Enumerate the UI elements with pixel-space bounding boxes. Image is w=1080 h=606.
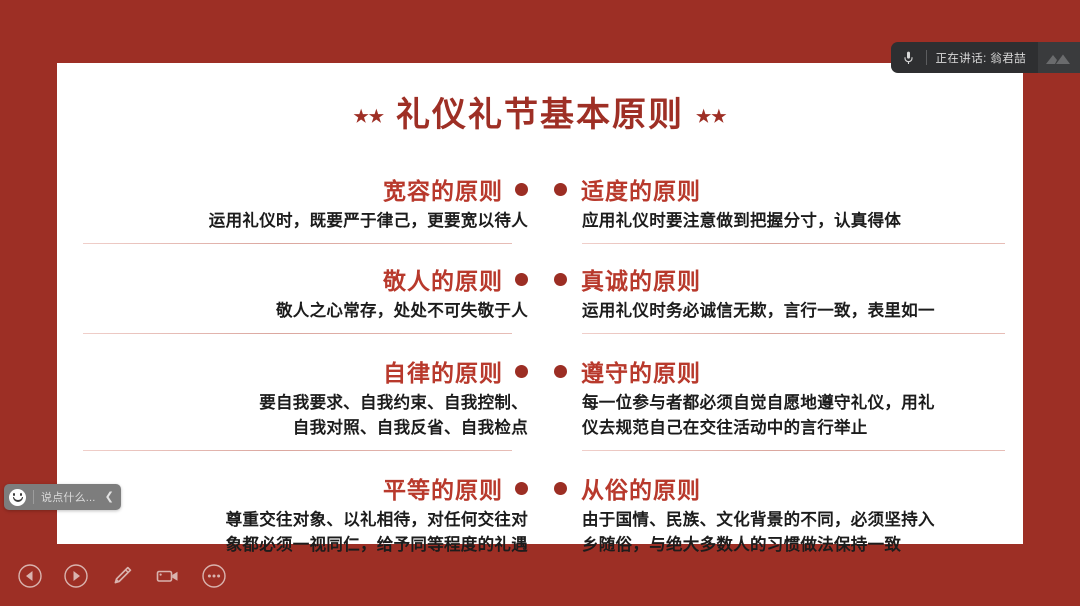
principle-description: 应用礼仪时要注意做到把握分寸，认真得体 <box>554 209 1023 234</box>
principles-columns: 宽容的原则 运用礼仪时，既要严于律己，更要宽以待人 敬人的原则 敬人之心常存，处… <box>57 150 1023 564</box>
video-button[interactable] <box>152 560 184 592</box>
principle-description: 运用礼仪时务必诚信无欺，言行一致，表里如一 <box>554 299 1023 324</box>
divider <box>83 450 512 451</box>
bullet-dot-icon <box>515 482 528 495</box>
principle-title: 敬人的原则 <box>383 262 503 296</box>
bullet-dot-icon <box>554 273 567 286</box>
principle-heading-row: 真诚的原则 <box>554 262 1023 296</box>
right-principles-column: 适度的原则 应用礼仪时要注意做到把握分寸，认真得体 真诚的原则 运用礼仪时务必诚… <box>540 150 1023 564</box>
bullet-dot-icon <box>554 482 567 495</box>
principle-item: 从俗的原则 由于国情、民族、文化背景的不同，必须坚持入 乡随俗，与绝大多数人的习… <box>554 471 1023 564</box>
chat-input-placeholder[interactable]: 说点什么... <box>41 489 96 505</box>
principle-item: 敬人的原则 敬人之心常存，处处不可失敬于人 <box>83 262 528 340</box>
divider <box>582 450 1005 451</box>
principle-item: 适度的原则 应用礼仪时要注意做到把握分寸，认真得体 <box>554 172 1023 250</box>
principle-item: 自律的原则 要自我要求、自我约束、自我控制、 自我对照、自我反省、自我检点 <box>83 354 528 457</box>
chat-input-bar[interactable]: 说点什么... ❮ <box>4 484 121 510</box>
principle-heading-row: 敬人的原则 <box>83 262 528 296</box>
video-thumbnail[interactable] <box>1038 42 1080 73</box>
bullet-dot-icon <box>554 183 567 196</box>
next-slide-button[interactable] <box>60 560 92 592</box>
annotate-button[interactable] <box>106 560 138 592</box>
bullet-dot-icon <box>554 365 567 378</box>
principle-description: 要自我要求、自我约束、自我控制、 自我对照、自我反省、自我检点 <box>83 391 528 441</box>
divider <box>83 243 512 244</box>
principle-description: 每一位参与者都必须自觉自愿地遵守礼仪，用礼 仪去规范自己在交往活动中的言行举止 <box>554 391 1023 441</box>
principle-title: 自律的原则 <box>383 354 503 388</box>
principle-heading-row: 适度的原则 <box>554 172 1023 206</box>
principle-heading-row: 平等的原则 <box>83 471 528 505</box>
principle-item: 平等的原则 尊重交往对象、以礼相待，对任何交往对 象都必须一视同仁，给予同等程度… <box>83 471 528 564</box>
separator <box>926 50 927 65</box>
bullet-dot-icon <box>515 183 528 196</box>
bullet-dot-icon <box>515 273 528 286</box>
principle-description: 敬人之心常存，处处不可失敬于人 <box>83 299 528 324</box>
active-speaker-label: 正在讲话: 翁君喆 <box>936 50 1027 66</box>
principle-heading-row: 宽容的原则 <box>83 172 528 206</box>
speaking-indicator[interactable]: 正在讲话: 翁君喆 <box>891 42 1080 73</box>
divider <box>582 333 1005 334</box>
presentation-slide: ★★礼仪礼节基本原则★★ 宽容的原则 运用礼仪时，既要严于律己，更要宽以待人 敬… <box>57 63 1023 544</box>
principle-title: 宽容的原则 <box>383 172 503 206</box>
divider <box>83 333 512 334</box>
microphone-icon <box>901 49 917 67</box>
principle-title: 适度的原则 <box>581 172 701 206</box>
smiley-icon[interactable] <box>9 489 26 506</box>
principle-title: 平等的原则 <box>383 471 503 505</box>
star-decoration-right: ★★ <box>696 107 726 126</box>
principle-title: 真诚的原则 <box>581 262 701 296</box>
separator <box>33 490 34 504</box>
star-decoration-left: ★★ <box>354 107 384 126</box>
principle-title: 遵守的原则 <box>581 354 701 388</box>
principle-heading-row: 从俗的原则 <box>554 471 1023 505</box>
principle-description: 运用礼仪时，既要严于律己，更要宽以待人 <box>83 209 528 234</box>
divider <box>582 243 1005 244</box>
slide-title-text: 礼仪礼节基本原则 <box>396 97 684 134</box>
principle-title: 从俗的原则 <box>581 471 701 505</box>
principle-description: 尊重交往对象、以礼相待，对任何交往对 象都必须一视同仁，给予同等程度的礼遇 <box>83 508 528 558</box>
principle-description: 由于国情、民族、文化背景的不同，必须坚持入 乡随俗，与绝大多数人的习惯做法保持一… <box>554 508 1023 558</box>
principle-item: 遵守的原则 每一位参与者都必须自觉自愿地遵守礼仪，用礼 仪去规范自己在交往活动中… <box>554 354 1023 457</box>
left-principles-column: 宽容的原则 运用礼仪时，既要严于律己，更要宽以待人 敬人的原则 敬人之心常存，处… <box>57 150 540 564</box>
principle-item: 宽容的原则 运用礼仪时，既要严于律己，更要宽以待人 <box>83 172 528 250</box>
principle-item: 真诚的原则 运用礼仪时务必诚信无欺，言行一致，表里如一 <box>554 262 1023 340</box>
principle-heading-row: 自律的原则 <box>83 354 528 388</box>
bullet-dot-icon <box>515 365 528 378</box>
previous-slide-button[interactable] <box>14 560 46 592</box>
page-title: ★★礼仪礼节基本原则★★ <box>57 87 1023 136</box>
chevron-left-icon[interactable]: ❮ <box>105 492 114 503</box>
more-options-button[interactable] <box>198 560 230 592</box>
presentation-toolbar <box>14 556 230 596</box>
principle-heading-row: 遵守的原则 <box>554 354 1023 388</box>
